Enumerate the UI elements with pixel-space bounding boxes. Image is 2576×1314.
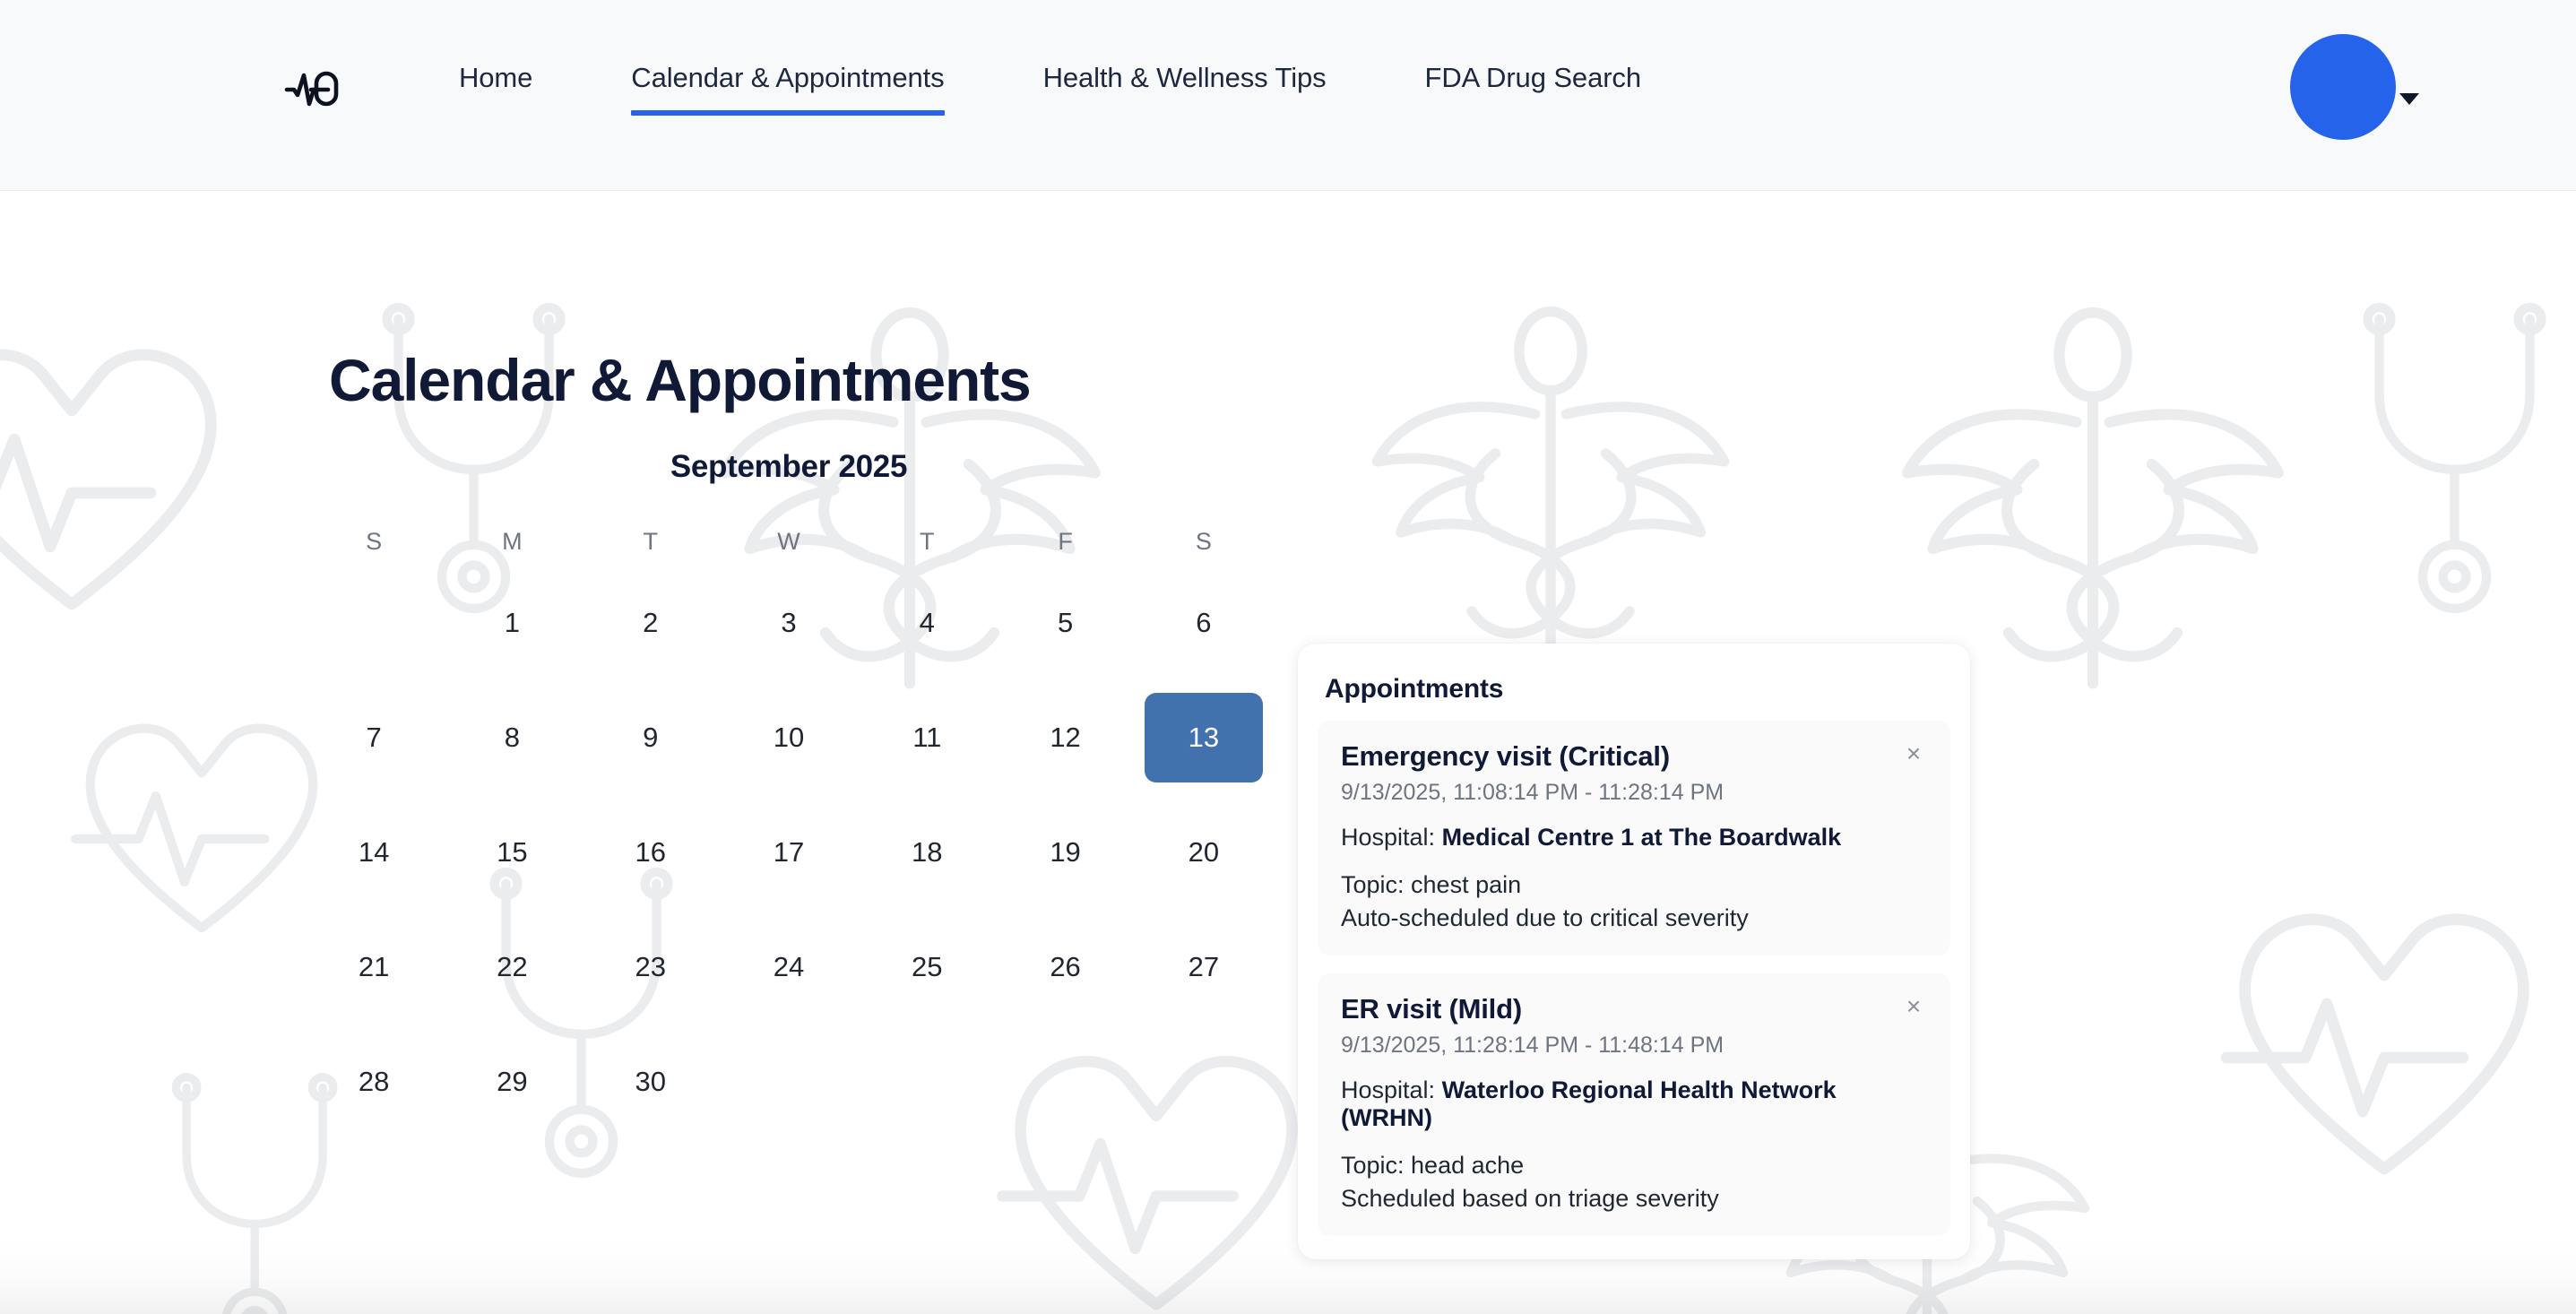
calendar-cell[interactable]: 23 [582, 910, 720, 1024]
calendar-day-7[interactable]: 7 [315, 693, 433, 782]
calendar-cell[interactable]: 17 [720, 795, 858, 910]
calendar-cell[interactable]: 24 [720, 910, 858, 1024]
calendar-cell[interactable]: 18 [858, 795, 996, 910]
bottom-shadow [0, 1232, 2576, 1314]
calendar-cell[interactable]: 21 [305, 910, 443, 1024]
calendar-day-10[interactable]: 10 [730, 693, 848, 782]
calendar-cell[interactable]: 11 [858, 680, 996, 795]
chevron-down-icon[interactable] [2399, 93, 2419, 105]
calendar: September 2025 SMTWTFS123456789101112131… [305, 449, 1273, 1139]
calendar-day-29[interactable]: 29 [453, 1037, 571, 1127]
appointment-title: Emergency visit (Critical) [1341, 740, 1927, 773]
appointment-hospital: Hospital: Waterloo Regional Health Netwo… [1341, 1076, 1927, 1132]
calendar-day-18[interactable]: 18 [868, 808, 986, 897]
calendar-day-8[interactable]: 8 [453, 693, 571, 782]
calendar-day-23[interactable]: 23 [592, 922, 710, 1012]
calendar-day-14[interactable]: 14 [315, 808, 433, 897]
calendar-day-27[interactable]: 27 [1145, 922, 1263, 1012]
appointments-panel: Appointments ×Emergency visit (Critical)… [1298, 644, 1970, 1259]
nav-link-fda-drug-search[interactable]: FDA Drug Search [1425, 56, 1641, 116]
calendar-cell[interactable]: 5 [996, 566, 1134, 680]
calendar-day-30[interactable]: 30 [592, 1037, 710, 1127]
calendar-day-header: T [858, 517, 996, 566]
nav-link-calendar-appointments[interactable]: Calendar & Appointments [631, 56, 944, 116]
calendar-day-header: W [720, 517, 858, 566]
calendar-cell[interactable]: 12 [996, 680, 1134, 795]
close-icon[interactable]: × [1898, 991, 1929, 1022]
calendar-day-11[interactable]: 11 [868, 693, 986, 782]
calendar-day-header: F [996, 517, 1134, 566]
caduceus-icon [1353, 296, 1748, 690]
calendar-day-15[interactable]: 15 [453, 808, 571, 897]
calendar-cell[interactable]: 29 [443, 1024, 581, 1139]
calendar-cell[interactable]: 22 [443, 910, 581, 1024]
calendar-cell[interactable]: 25 [858, 910, 996, 1024]
calendar-cell[interactable]: 10 [720, 680, 858, 795]
calendar-day-4[interactable]: 4 [868, 578, 986, 668]
calendar-cell[interactable]: 13 [1135, 680, 1273, 795]
appointment-time: 9/13/2025, 11:08:14 PM - 11:28:14 PM [1341, 780, 1927, 806]
calendar-cell[interactable]: 1 [443, 566, 581, 680]
close-icon[interactable]: × [1898, 739, 1929, 769]
calendar-day-17[interactable]: 17 [730, 808, 848, 897]
appointment-card: ×ER visit (Mild)9/13/2025, 11:28:14 PM -… [1318, 973, 1950, 1236]
calendar-cell[interactable]: 3 [720, 566, 858, 680]
calendar-month-label: September 2025 [305, 449, 1273, 485]
calendar-day-5[interactable]: 5 [1007, 578, 1125, 668]
calendar-day-12[interactable]: 12 [1007, 693, 1125, 782]
appointment-title: ER visit (Mild) [1341, 993, 1927, 1025]
calendar-cell[interactable]: 9 [582, 680, 720, 795]
heart-pulse-icon [0, 296, 260, 654]
calendar-day-header: T [582, 517, 720, 566]
appointment-topic: Topic: head ache [1341, 1152, 1927, 1180]
calendar-day-19[interactable]: 19 [1007, 808, 1125, 897]
calendar-cell[interactable]: 30 [582, 1024, 720, 1139]
calendar-cell[interactable]: 20 [1135, 795, 1273, 910]
appointment-note: Auto-scheduled due to critical severity [1341, 904, 1927, 932]
profile-menu[interactable] [2290, 34, 2419, 140]
calendar-cell[interactable]: 4 [858, 566, 996, 680]
calendar-cell[interactable]: 8 [443, 680, 581, 795]
appointment-time: 9/13/2025, 11:28:14 PM - 11:48:14 PM [1341, 1033, 1927, 1059]
calendar-cell[interactable]: 7 [305, 680, 443, 795]
appointments-panel-title: Appointments [1325, 674, 1950, 705]
appointment-note: Scheduled based on triage severity [1341, 1185, 1927, 1213]
avatar[interactable] [2290, 34, 2396, 140]
appointments-list: ×Emergency visit (Critical)9/13/2025, 11… [1318, 721, 1950, 1236]
nav-link-health-wellness-tips[interactable]: Health & Wellness Tips [1043, 56, 1327, 116]
calendar-day-3[interactable]: 3 [730, 578, 848, 668]
calendar-day-28[interactable]: 28 [315, 1037, 433, 1127]
calendar-empty-cell [305, 566, 443, 680]
heart-pulse-icon [2196, 860, 2572, 1219]
calendar-cell[interactable]: 19 [996, 795, 1134, 910]
calendar-cell[interactable]: 26 [996, 910, 1134, 1024]
calendar-day-20[interactable]: 20 [1145, 808, 1263, 897]
stethoscope-icon [2312, 296, 2576, 672]
heartbeat-pulse-logo-icon[interactable] [280, 65, 344, 111]
calendar-cell[interactable]: 27 [1135, 910, 1273, 1024]
calendar-grid: SMTWTFS123456789101112131415161718192021… [305, 517, 1273, 1139]
calendar-day-21[interactable]: 21 [315, 922, 433, 1012]
calendar-cell[interactable]: 6 [1135, 566, 1273, 680]
calendar-cell[interactable]: 14 [305, 795, 443, 910]
calendar-cell[interactable]: 2 [582, 566, 720, 680]
top-navbar: Home Calendar & Appointments Health & We… [0, 0, 2576, 191]
calendar-day-header: S [305, 517, 443, 566]
calendar-day-1[interactable]: 1 [453, 578, 571, 668]
nav-links: Home Calendar & Appointments Health & We… [459, 56, 1641, 116]
appointment-card: ×Emergency visit (Critical)9/13/2025, 11… [1318, 721, 1950, 955]
calendar-cell[interactable]: 15 [443, 795, 581, 910]
calendar-day-header: M [443, 517, 581, 566]
calendar-cell[interactable]: 16 [582, 795, 720, 910]
appointment-topic: Topic: chest pain [1341, 871, 1927, 899]
calendar-day-9[interactable]: 9 [592, 693, 710, 782]
calendar-day-24[interactable]: 24 [730, 922, 848, 1012]
calendar-day-22[interactable]: 22 [453, 922, 571, 1012]
appointment-hospital: Hospital: Medical Centre 1 at The Boardw… [1341, 824, 1927, 852]
calendar-day-2[interactable]: 2 [592, 578, 710, 668]
page-title: Calendar & Appointments [329, 346, 1031, 414]
calendar-day-16[interactable]: 16 [592, 808, 710, 897]
calendar-day-26[interactable]: 26 [1007, 922, 1125, 1012]
nav-link-home[interactable]: Home [459, 56, 532, 116]
calendar-day-25[interactable]: 25 [868, 922, 986, 1012]
calendar-day-6[interactable]: 6 [1145, 578, 1263, 668]
calendar-day-header: S [1135, 517, 1273, 566]
calendar-cell[interactable]: 28 [305, 1024, 443, 1139]
calendar-day-13[interactable]: 13 [1145, 693, 1263, 782]
